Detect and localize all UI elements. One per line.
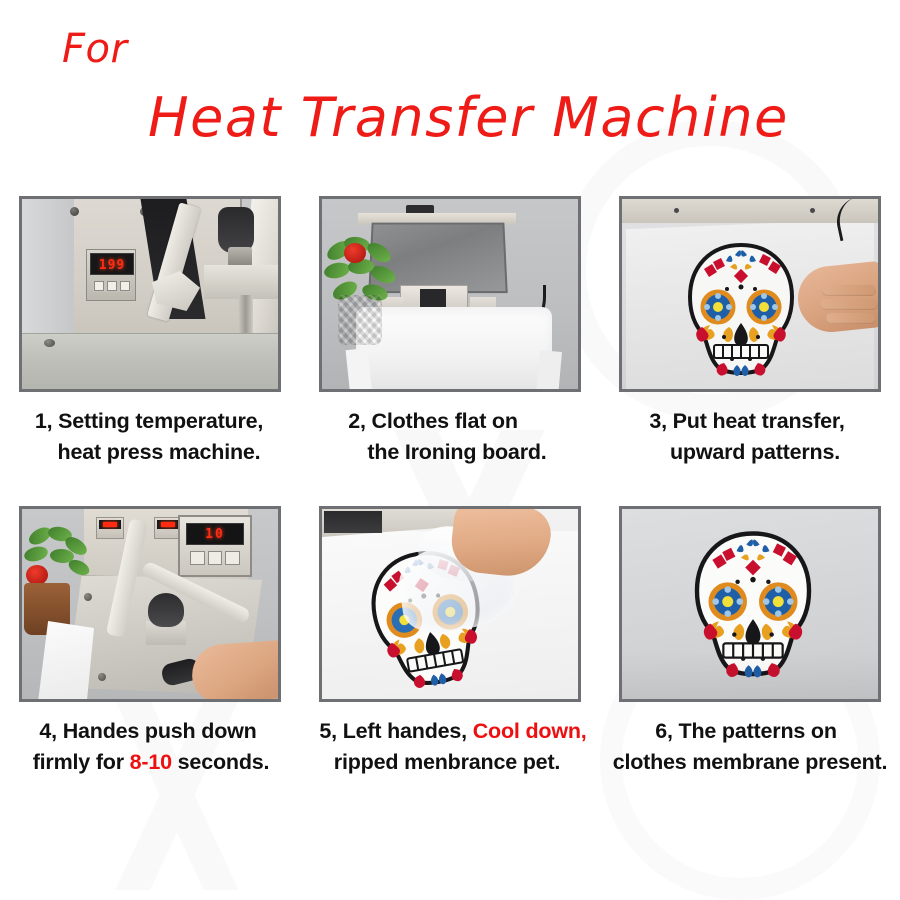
- timer-display: 10: [187, 528, 243, 541]
- step-4-photo: 10: [19, 506, 281, 702]
- step-3-photo: [619, 196, 881, 392]
- finger: [820, 299, 878, 310]
- caption-line-1: 6, The patterns on: [592, 716, 900, 747]
- white-cloth: [356, 307, 552, 392]
- caption-text-pre: firmly for: [33, 750, 130, 774]
- step-3: 3, Put heat transfer, upward patterns.: [600, 190, 900, 500]
- screw-icon: [70, 207, 79, 216]
- caption-highlight-cooldown: Cool down,: [473, 719, 587, 743]
- sugar-skull-transfer: [680, 241, 802, 381]
- controller-button: [94, 281, 104, 291]
- step-4-caption: 4, Handes push down firmly for 8-10 seco…: [0, 716, 300, 777]
- step-2-caption: 2, Clothes flat on the Ironing board.: [300, 406, 600, 467]
- step-1-photo: 199: [19, 196, 281, 392]
- controller-button: [120, 281, 130, 291]
- step-5-caption: 5, Left handes, Cool down, ripped menbra…: [300, 716, 600, 777]
- red-rose: [26, 565, 48, 585]
- step-3-caption: 3, Put heat transfer, upward patterns.: [600, 406, 900, 467]
- step-2: 2, Clothes flat on the Ironing board.: [300, 190, 600, 500]
- screw-icon: [44, 339, 55, 347]
- led-panel: 10: [186, 523, 244, 545]
- small-controller-left: [96, 517, 124, 539]
- bolt: [228, 247, 252, 267]
- screw-icon: [674, 208, 679, 213]
- caption-line-2: clothes membrane present.: [600, 747, 900, 778]
- plant: [22, 527, 100, 637]
- caption-text-post: seconds.: [172, 750, 269, 774]
- caption-line-2: heat press machine.: [18, 437, 300, 468]
- caption-text-pre: 5, Left handes,: [319, 719, 472, 743]
- caption-line-1: 2, Clothes flat on: [266, 406, 600, 437]
- dark-gap: [324, 511, 382, 533]
- caption-line-2: upward patterns.: [610, 437, 900, 468]
- controller-buttons: [190, 551, 240, 565]
- work-table: [22, 333, 278, 389]
- caption-line-1: 4, Handes push down: [0, 716, 300, 747]
- finger: [826, 313, 876, 324]
- finger: [822, 285, 876, 296]
- screw-icon: [98, 673, 106, 681]
- temperature-controller: 199: [86, 249, 136, 301]
- fabric-shadow: [622, 651, 878, 699]
- temperature-display: 199: [91, 259, 133, 272]
- press-knob: [148, 593, 184, 627]
- controller-button: [107, 281, 117, 291]
- caption-line-1: 3, Put heat transfer,: [594, 406, 900, 437]
- step-6-photo: [619, 506, 881, 702]
- controller-button: [225, 551, 240, 565]
- led-strip: [157, 520, 179, 529]
- controller-button: [190, 551, 205, 565]
- step-6-caption: 6, The patterns on clothes membrane pres…: [600, 716, 900, 777]
- instruction-infographic: For Heat Transfer Machine 19: [0, 0, 900, 900]
- wicker-pot: [338, 295, 382, 345]
- timer-controller: 10: [178, 515, 252, 577]
- step-5-photo: [319, 506, 581, 702]
- step-1: 199 1, Setting temperature, heat press m…: [0, 190, 300, 500]
- step-2-photo: [319, 196, 581, 392]
- step-6: 6, The patterns on clothes membrane pres…: [600, 500, 900, 810]
- caption-line-1: 1, Setting temperature,: [0, 406, 300, 437]
- caption-highlight-duration: 8-10: [130, 750, 172, 774]
- machine-block: [204, 265, 281, 299]
- screw-icon: [810, 208, 815, 213]
- caption-line-2: ripped menbrance pet.: [294, 747, 600, 778]
- title-prefix: For: [62, 26, 127, 72]
- leaf: [23, 544, 50, 563]
- step-5: 5, Left handes, Cool down, ripped menbra…: [300, 500, 600, 810]
- caption-line-2: firmly for 8-10 seconds.: [2, 747, 300, 778]
- controller-button: [208, 551, 223, 565]
- step-4: 10: [0, 500, 300, 810]
- leaf: [323, 260, 352, 280]
- page-title: Heat Transfer Machine: [148, 86, 789, 149]
- led-strip: [99, 520, 121, 529]
- red-rose: [344, 243, 366, 263]
- steps-grid: 199 1, Setting temperature, heat press m…: [0, 190, 900, 810]
- step-1-caption: 1, Setting temperature, heat press machi…: [0, 406, 300, 467]
- led-panel: 199: [90, 253, 134, 275]
- caption-line-1: 5, Left handes, Cool down,: [306, 716, 600, 747]
- caption-line-2: the Ironing board.: [314, 437, 600, 468]
- controller-buttons: [93, 280, 131, 292]
- leaf: [66, 557, 91, 578]
